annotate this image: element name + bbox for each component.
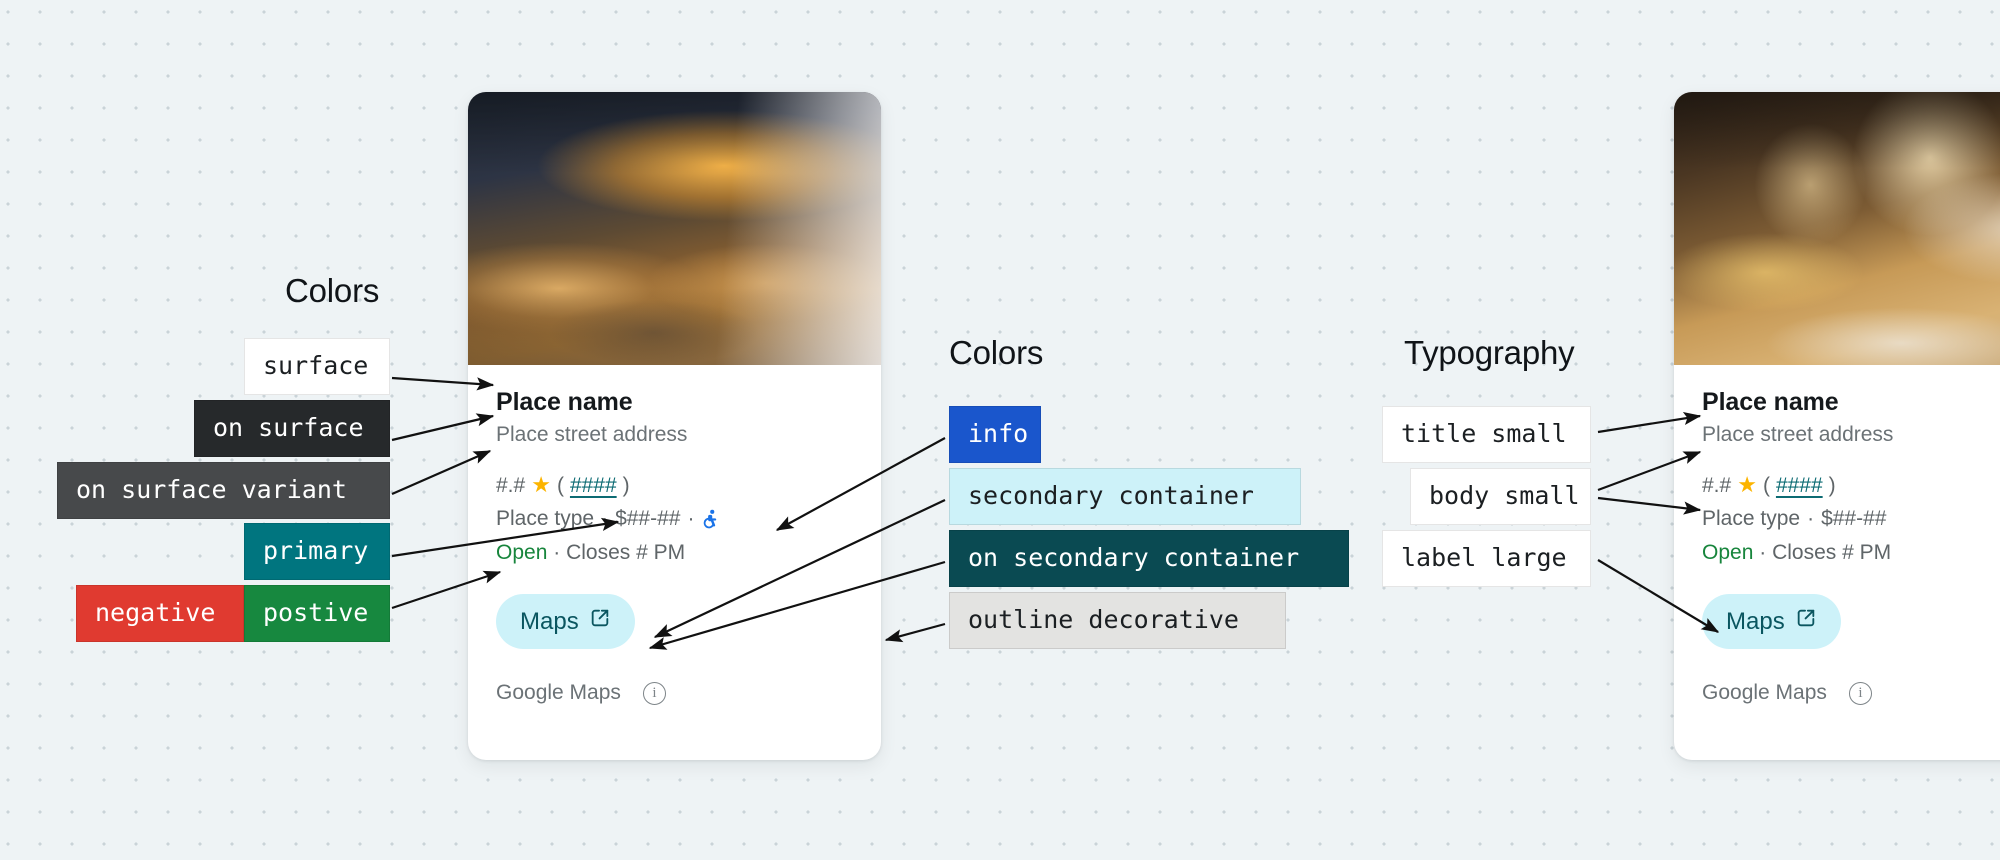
color-chip-label: postive: [263, 598, 368, 627]
place-card-body: Place name Place street address #.# ★ (#…: [1674, 365, 2000, 725]
color-chip-info[interactable]: info: [949, 406, 1041, 463]
color-chip-positive[interactable]: postive: [244, 585, 390, 642]
price-range: $##-##: [615, 503, 680, 535]
place-card-right[interactable]: Place name Place street address #.# ★ (#…: [1674, 92, 2000, 760]
place-address: Place street address: [496, 421, 853, 449]
review-count-link[interactable]: ####: [1776, 470, 1823, 502]
open-paren: (: [557, 470, 564, 502]
color-chip-surface[interactable]: surface: [244, 338, 390, 395]
section-heading-colors-mid: Colors: [949, 334, 1043, 372]
rating-value: #.#: [1702, 470, 1731, 502]
color-chip-on-secondary-container[interactable]: on secondary container: [949, 530, 1349, 587]
section-heading-typography: Typography: [1404, 334, 1574, 372]
wheelchair-accessible-icon: [701, 508, 720, 529]
separator-dot: ·: [601, 503, 608, 535]
color-chip-label: primary: [263, 536, 368, 565]
external-link-icon: [1795, 607, 1817, 636]
color-chip-label: negative: [95, 598, 215, 627]
place-type-row: Place type · $##-## ·: [496, 503, 853, 535]
type-chip-label: title small: [1401, 419, 1567, 448]
closing-time: Closes # PM: [566, 541, 685, 564]
color-chip-label: outline decorative: [968, 605, 1239, 634]
place-name: Place name: [496, 387, 853, 418]
maps-button[interactable]: Maps: [1702, 594, 1841, 649]
review-count-link[interactable]: ####: [570, 470, 617, 502]
info-circle-icon[interactable]: i: [643, 682, 666, 705]
close-paren: ): [1829, 470, 1836, 502]
color-chip-label: on secondary container: [968, 543, 1299, 572]
place-meta-block: #.# ★ (####) Place type · $##-## Open · …: [1702, 470, 2000, 569]
place-type: Place type: [1702, 503, 1800, 535]
color-chip-label: surface: [263, 351, 368, 380]
place-address: Place street address: [1702, 421, 2000, 449]
card-footer: Google Maps i: [1702, 681, 2000, 705]
rating-row: #.# ★ (####): [1702, 470, 2000, 502]
place-photo-cafe: [1674, 92, 2000, 365]
external-link-icon: [589, 607, 611, 636]
open-paren: (: [1763, 470, 1770, 502]
info-circle-icon[interactable]: i: [1849, 682, 1872, 705]
type-chip-title-small[interactable]: title small: [1382, 406, 1591, 463]
color-chip-label: secondary container: [968, 481, 1254, 510]
hours-row: Open · Closes # PM: [496, 537, 853, 569]
separator-dot: ·: [687, 503, 694, 535]
price-range: $##-##: [1821, 503, 1886, 535]
open-status: Open: [1702, 541, 1753, 564]
star-icon: ★: [1737, 474, 1757, 496]
color-chip-secondary-container[interactable]: secondary container: [949, 468, 1301, 525]
hours-row: Open · Closes # PM: [1702, 537, 2000, 569]
type-chip-body-small[interactable]: body small: [1410, 468, 1591, 525]
color-chip-negative[interactable]: negative: [76, 585, 244, 642]
section-heading-colors-left: Colors: [285, 272, 379, 310]
footer-attribution: Google Maps: [496, 681, 621, 705]
place-card-body: Place name Place street address #.# ★ (#…: [468, 365, 881, 725]
rating-value: #.#: [496, 470, 525, 502]
footer-attribution: Google Maps: [1702, 681, 1827, 705]
place-card-left[interactable]: Place name Place street address #.# ★ (#…: [468, 92, 881, 760]
color-chip-label: on surface variant: [76, 475, 347, 504]
color-chip-primary[interactable]: primary: [244, 523, 390, 580]
place-type: Place type: [496, 503, 594, 535]
closing-time: Closes # PM: [1772, 541, 1891, 564]
color-chip-on-surface[interactable]: on surface: [194, 400, 390, 457]
maps-button[interactable]: Maps: [496, 594, 635, 649]
open-status: Open: [496, 541, 547, 564]
star-icon: ★: [531, 474, 551, 496]
color-chip-label: info: [968, 419, 1028, 448]
maps-button-label: Maps: [520, 608, 579, 636]
maps-button-label: Maps: [1726, 608, 1785, 636]
separator-dot: ·: [1759, 541, 1766, 564]
rating-row: #.# ★ (####): [496, 470, 853, 502]
place-photo-bakery: [468, 92, 881, 365]
separator-dot: ·: [1807, 503, 1814, 535]
close-paren: ): [623, 470, 630, 502]
type-chip-label: body small: [1429, 481, 1580, 510]
color-chip-outline-decorative[interactable]: outline decorative: [949, 592, 1286, 649]
place-meta-block: #.# ★ (####) Place type · $##-## ·: [496, 470, 853, 569]
color-chip-on-surface-variant[interactable]: on surface variant: [57, 462, 390, 519]
type-chip-label: label large: [1401, 543, 1567, 572]
card-footer: Google Maps i: [496, 681, 853, 705]
separator-dot: ·: [553, 541, 560, 564]
color-chip-label: on surface: [213, 413, 364, 442]
place-name: Place name: [1702, 387, 2000, 418]
type-chip-label-large[interactable]: label large: [1382, 530, 1591, 587]
place-type-row: Place type · $##-##: [1702, 503, 2000, 535]
